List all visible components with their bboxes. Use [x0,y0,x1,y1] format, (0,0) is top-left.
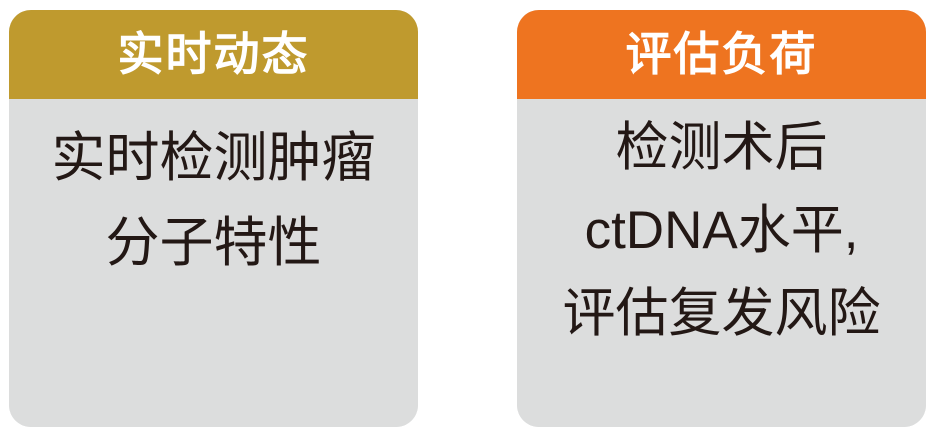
card-body-realtime-dynamics: 实时检测肿瘤 分子特性 [9,99,418,427]
card-body-line: 检测术后 [616,121,828,174]
card-body-line: 评估复发风险 [563,287,881,340]
card-board: 实时动态 实时检测肿瘤 分子特性 评估负荷 检测术后 ctDNA水平, 评估复发… [0,0,934,441]
card-title-assess-burden: 评估负荷 [626,31,818,77]
info-card-realtime-dynamics[interactable]: 实时动态 实时检测肿瘤 分子特性 [9,10,418,427]
card-body-assess-burden: 检测术后 ctDNA水平, 评估复发风险 [517,99,926,427]
card-title-realtime-dynamics: 实时动态 [118,31,310,77]
card-header-realtime-dynamics: 实时动态 [9,10,418,99]
card-header-assess-burden: 评估负荷 [517,10,926,99]
card-body-line: ctDNA水平, [585,204,859,257]
card-body-line: 分子特性 [106,216,322,270]
card-body-line: 实时检测肿瘤 [52,131,376,185]
info-card-assess-burden[interactable]: 评估负荷 检测术后 ctDNA水平, 评估复发风险 [517,10,926,427]
